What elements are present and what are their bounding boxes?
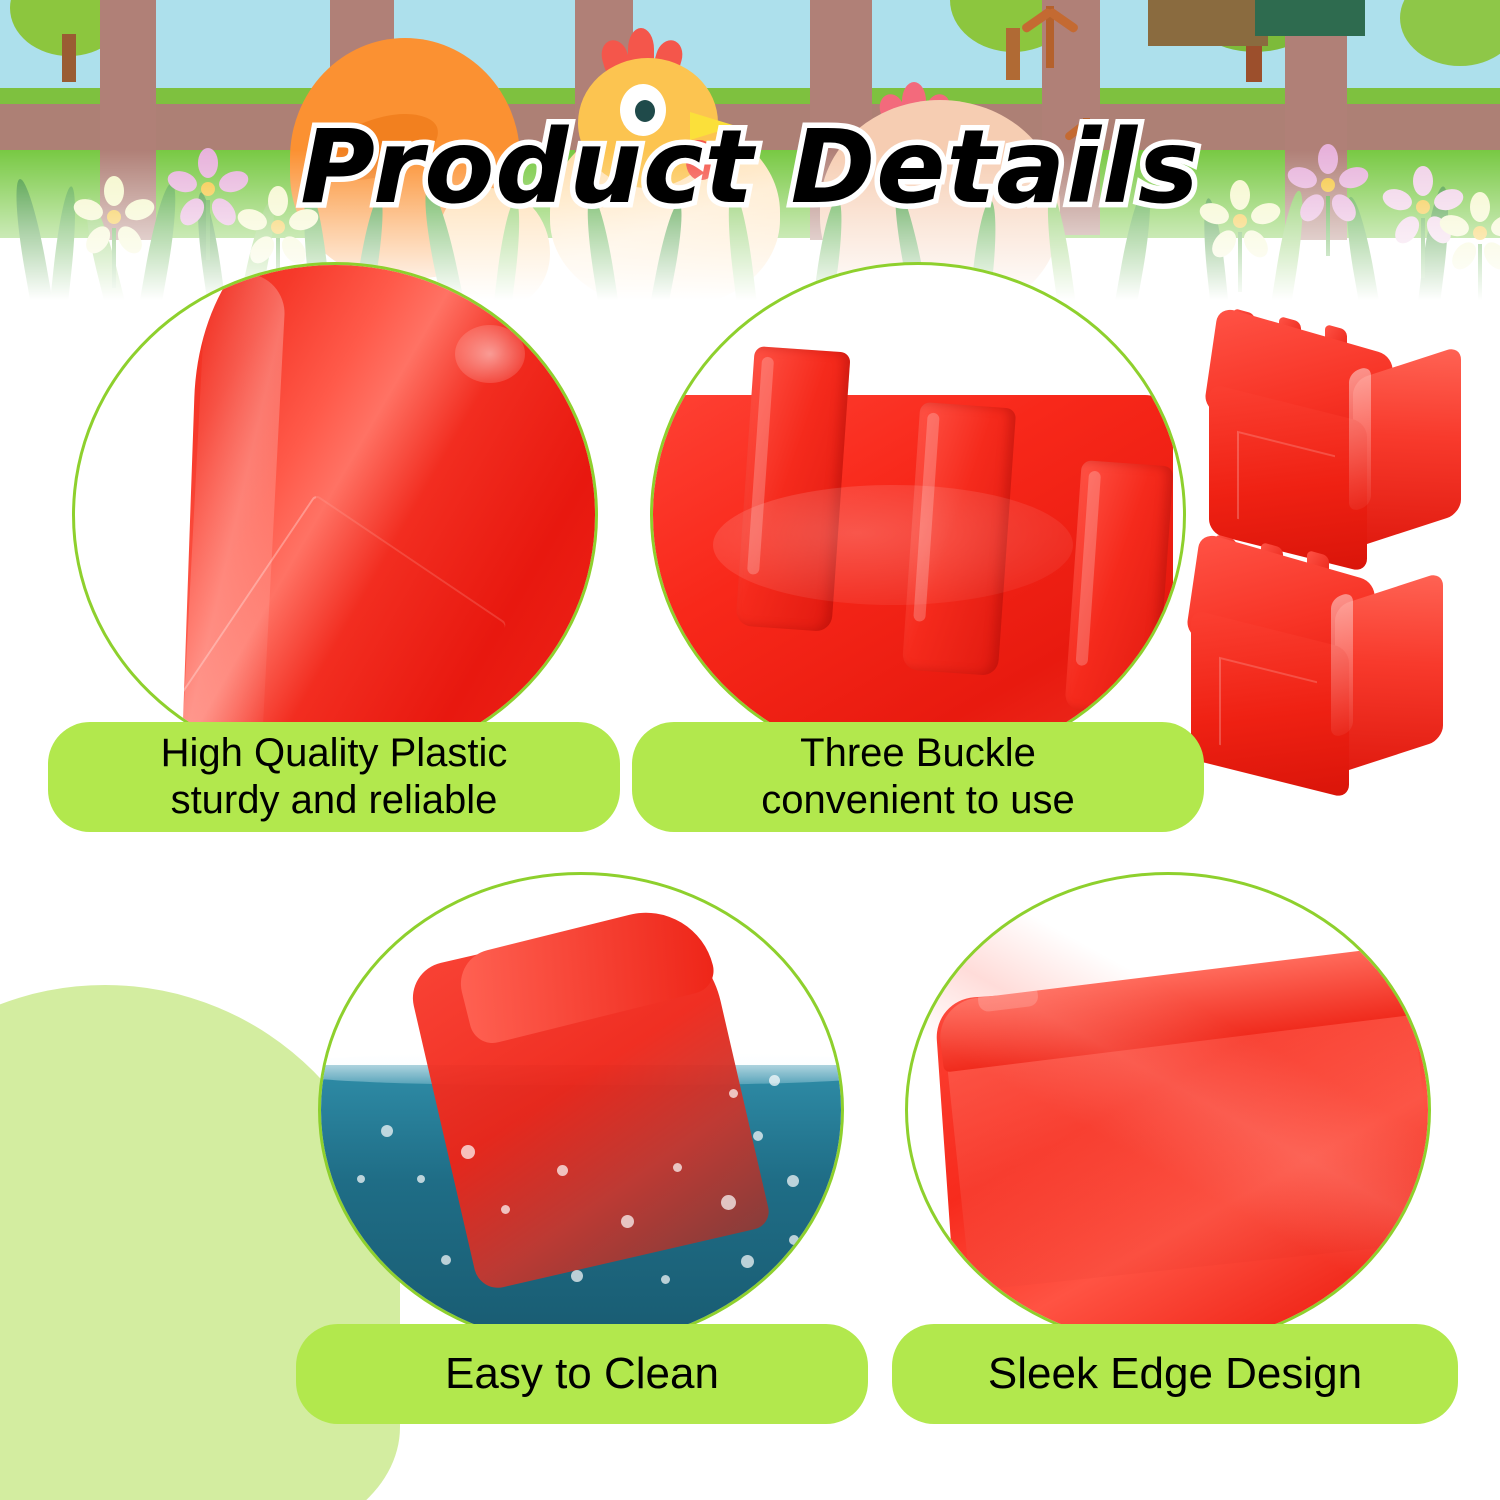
feeder-box [1203,311,1453,561]
feature-label-line2: convenient to use [761,778,1075,822]
feature-label-easy-to-clean: Easy to Clean [296,1324,868,1424]
feature-image-sleek-edge-design [905,872,1431,1348]
product-gloss-spot [455,325,525,383]
feature-label-line1: Sleek Edge Design [988,1348,1362,1400]
feature-image-easy-to-clean [318,872,844,1348]
feature-label-sleek-edge-design: Sleek Edge Design [892,1324,1458,1424]
feature-label-three-buckle: Three Buckle convenient to use [632,722,1204,832]
feature-image-three-buckle [650,262,1186,768]
feature-label-line1: High Quality Plastic [161,731,508,775]
feature-label-high-quality-plastic: High Quality Plastic sturdy and reliable [48,722,620,832]
feeder-box [1185,537,1435,787]
feature-label-line1: Easy to Clean [445,1348,719,1400]
barn-roof [1255,0,1365,36]
product-gloss-spot [713,485,1073,605]
buckle-tab [1064,460,1173,716]
feature-label-line1: Three Buckle [800,731,1036,775]
product-shot-feeder-pair [1185,305,1500,845]
feature-label-line2: sturdy and reliable [171,778,498,822]
tree-far-right-icon [1400,0,1500,100]
barn-shape [1148,0,1268,46]
product-details-infographic: Product Details [0,0,1500,1500]
feature-image-high-quality-plastic [72,262,598,768]
page-title: Product Details [0,108,1500,227]
